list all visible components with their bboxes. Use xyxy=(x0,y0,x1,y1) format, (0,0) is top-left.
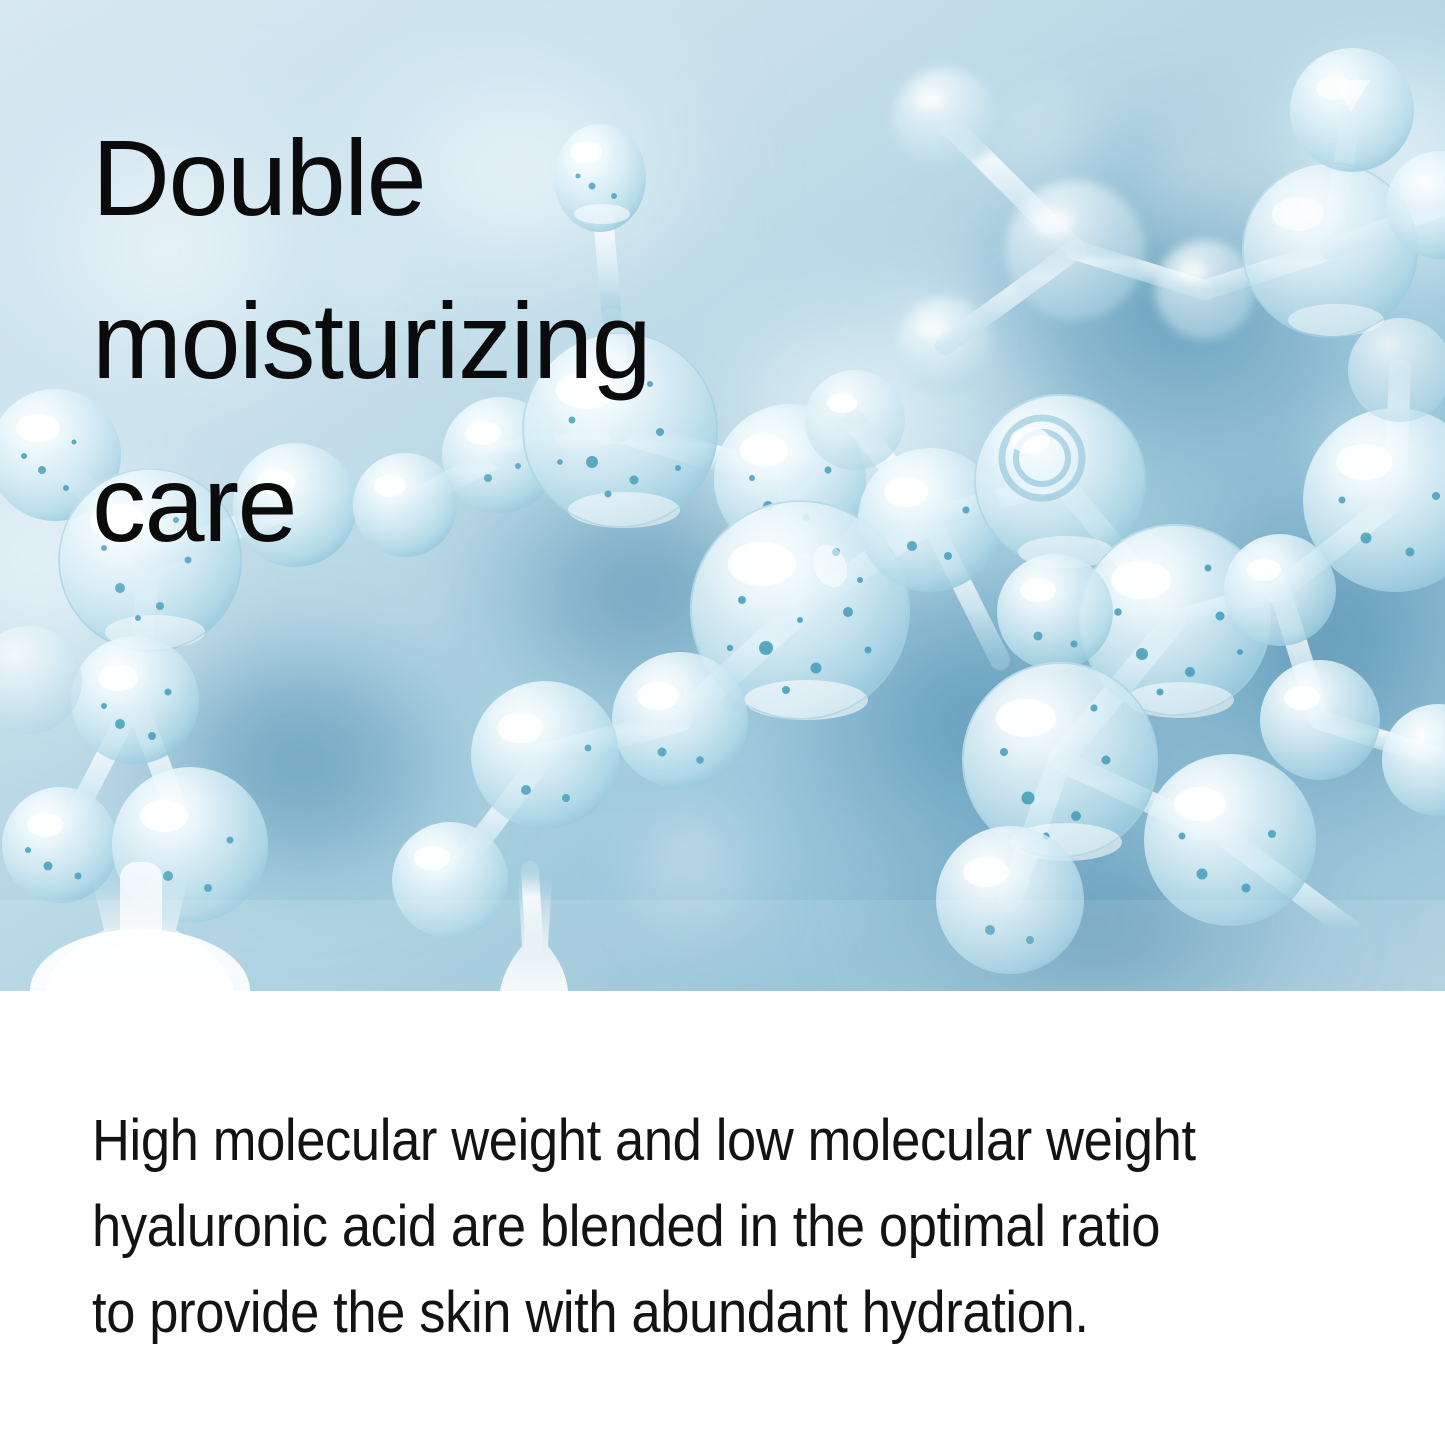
description-line-3: to provide the skin with abundant hydrat… xyxy=(92,1270,1241,1356)
headline-line-1: Double xyxy=(92,96,992,259)
description-line-2: hyaluronic acid are blended in the optim… xyxy=(92,1184,1241,1270)
product-banner-page: Double moisturizing care High molecular … xyxy=(0,0,1445,1445)
headline-line-2: moisturizing xyxy=(92,259,992,422)
hero-molecule-image: Double moisturizing care xyxy=(0,0,1445,991)
description-paragraph: High molecular weight and low molecular … xyxy=(92,1098,1362,1356)
headline-line-3: care xyxy=(92,422,992,585)
description-line-1: High molecular weight and low molecular … xyxy=(92,1098,1241,1184)
hero-headline: Double moisturizing care xyxy=(92,96,992,585)
